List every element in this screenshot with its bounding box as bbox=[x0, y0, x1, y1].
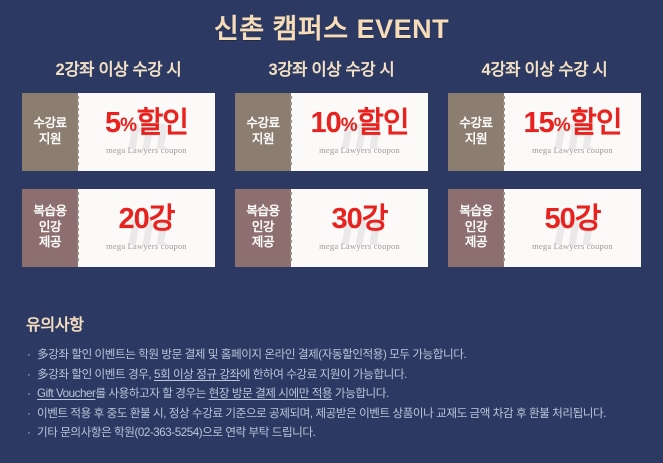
coupon-value: 15%할인 bbox=[523, 109, 621, 138]
notices-title: 유의사항 bbox=[26, 318, 637, 334]
coupon-value-unit: % bbox=[341, 115, 357, 136]
coupon-body: m5%할인mega Lawyers coupon bbox=[78, 93, 215, 171]
coupon-caption: mega Lawyers coupon bbox=[319, 241, 400, 251]
coupon-card[interactable]: 수강료지원m10%할인mega Lawyers coupon bbox=[235, 93, 428, 171]
notice-text: 를 사용하고자 할 경우는 bbox=[95, 387, 208, 400]
tier-heading: 4강좌 이상 수강 시 bbox=[448, 62, 641, 79]
coupon-card[interactable]: 복습용인강제공m30강mega Lawyers coupon bbox=[235, 189, 428, 267]
coupon-card[interactable]: 복습용인강제공m50강mega Lawyers coupon bbox=[448, 189, 641, 267]
tier-column: 4강좌 이상 수강 시수강료지원m15%할인mega Lawyers coupo… bbox=[448, 62, 641, 267]
notice-item: Gift Voucher를 사용하고자 할 경우는 현장 방문 결제 시에만 적… bbox=[26, 384, 637, 404]
tier-heading: 3강좌 이상 수강 시 bbox=[235, 62, 428, 79]
event-banner: 신촌 캠퍼스 EVENT 2강좌 이상 수강 시수강료지원m5%할인mega L… bbox=[0, 0, 663, 267]
coupon-value-unit: % bbox=[554, 115, 570, 136]
coupon-caption: mega Lawyers coupon bbox=[532, 241, 613, 251]
tier-column: 3강좌 이상 수강 시수강료지원m10%할인mega Lawyers coupo… bbox=[235, 62, 428, 267]
notice-text: 多강좌 할인 이벤트 경우, bbox=[37, 368, 154, 381]
coupon-caption: mega Lawyers coupon bbox=[106, 241, 187, 251]
coupon-tab-label: 복습용인강제공 bbox=[22, 189, 78, 267]
notices-list: 多강좌 할인 이벤트는 학원 방문 결제 및 홈페이지 온라인 결제(자동할인적… bbox=[26, 345, 637, 443]
coupon-value: 50강 bbox=[545, 205, 601, 234]
notice-emphasis: 현장 방문 결제 시에만 적용 bbox=[209, 387, 332, 400]
coupon-value: 10%할인 bbox=[310, 109, 408, 138]
coupon-value: 30강 bbox=[332, 205, 388, 234]
notice-item: 이벤트 적용 후 중도 환불 시, 정상 수강료 기준으로 공제되며, 제공받은… bbox=[26, 404, 637, 424]
notices-section: 유의사항 多강좌 할인 이벤트는 학원 방문 결제 및 홈페이지 온라인 결제(… bbox=[0, 318, 663, 443]
coupon-body: m30강mega Lawyers coupon bbox=[291, 189, 428, 267]
coupon-body: m15%할인mega Lawyers coupon bbox=[504, 93, 641, 171]
page-title: 신촌 캠퍼스 EVENT bbox=[0, 0, 663, 43]
coupon-body: m20강mega Lawyers coupon bbox=[78, 189, 215, 267]
notice-item: 多강좌 할인 이벤트 경우, 5회 이상 정규 강좌에 한하여 수강료 지원이 … bbox=[26, 365, 637, 385]
coupon-tab-label: 수강료지원 bbox=[22, 93, 78, 171]
coupon-body: m50강mega Lawyers coupon bbox=[504, 189, 641, 267]
coupon-tab-label: 수강료지원 bbox=[235, 93, 291, 171]
coupon-body: m10%할인mega Lawyers coupon bbox=[291, 93, 428, 171]
coupon-tab-label: 복습용인강제공 bbox=[235, 189, 291, 267]
notice-text: 기타 문의사항은 학원(02-363-5254)으로 연락 부탁 드립니다. bbox=[37, 426, 315, 439]
coupon-value: 5%할인 bbox=[105, 109, 188, 138]
coupon-caption: mega Lawyers coupon bbox=[532, 145, 613, 155]
notice-emphasis: 5회 이상 정규 강좌 bbox=[154, 368, 240, 381]
tier-column: 2강좌 이상 수강 시수강료지원m5%할인mega Lawyers coupon… bbox=[22, 62, 215, 267]
coupon-value: 20강 bbox=[119, 205, 175, 234]
tier-grid: 2강좌 이상 수강 시수강료지원m5%할인mega Lawyers coupon… bbox=[0, 62, 663, 267]
notice-text: 에 한하여 수강료 지원이 가능합니다. bbox=[240, 368, 407, 381]
tier-heading: 2강좌 이상 수강 시 bbox=[22, 62, 215, 79]
coupon-card[interactable]: 복습용인강제공m20강mega Lawyers coupon bbox=[22, 189, 215, 267]
notice-text: 가능합니다. bbox=[332, 387, 389, 400]
coupon-value-unit: % bbox=[120, 115, 136, 136]
coupon-tab-label: 수강료지원 bbox=[448, 93, 504, 171]
notice-text: 이벤트 적용 후 중도 환불 시, 정상 수강료 기준으로 공제되며, 제공받은… bbox=[37, 407, 606, 420]
coupon-caption: mega Lawyers coupon bbox=[106, 145, 187, 155]
notice-item: 기타 문의사항은 학원(02-363-5254)으로 연락 부탁 드립니다. bbox=[26, 423, 637, 443]
coupon-tab-label: 복습용인강제공 bbox=[448, 189, 504, 267]
coupon-caption: mega Lawyers coupon bbox=[319, 145, 400, 155]
notice-emphasis: Gift Voucher bbox=[37, 387, 95, 400]
notice-item: 多강좌 할인 이벤트는 학원 방문 결제 및 홈페이지 온라인 결제(자동할인적… bbox=[26, 345, 637, 365]
coupon-card[interactable]: 수강료지원m15%할인mega Lawyers coupon bbox=[448, 93, 641, 171]
coupon-card[interactable]: 수강료지원m5%할인mega Lawyers coupon bbox=[22, 93, 215, 171]
notice-text: 多강좌 할인 이벤트는 학원 방문 결제 및 홈페이지 온라인 결제(자동할인적… bbox=[37, 348, 466, 361]
